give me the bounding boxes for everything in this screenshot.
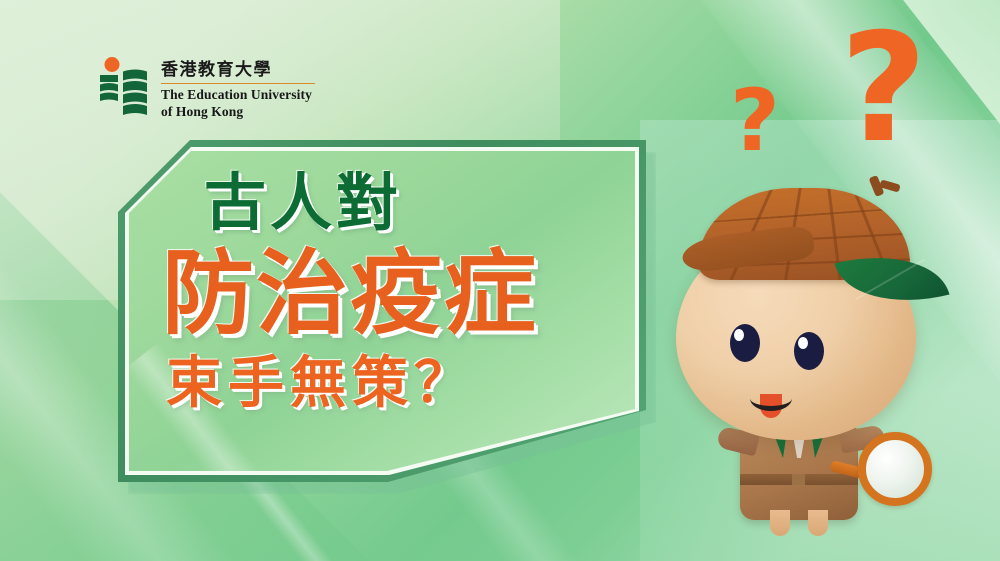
logo-name-english-line1: The Education University <box>161 87 315 104</box>
magnifying-glass-icon <box>858 432 932 506</box>
mascot-leg-right <box>808 510 828 536</box>
title-line-1: 古人對 <box>204 172 620 234</box>
logo-name-english-line2: of Hong Kong <box>161 104 315 121</box>
eduhk-logo: 香港教育大學 The Education University of Hong … <box>96 56 315 122</box>
mascot-leg-left <box>770 510 790 536</box>
question-mark-small-icon: ? <box>730 78 780 164</box>
cap-lattice-line <box>698 206 910 225</box>
poster-canvas: ? ? 香港教育大學 The Education University of H… <box>0 0 1000 561</box>
logo-divider-rule <box>161 83 315 85</box>
acorn-detective-mascot <box>662 186 982 561</box>
title-line-2: 防治疫症 <box>162 248 620 340</box>
mascot-eye-right <box>794 332 824 370</box>
mascot-eye-left <box>730 324 760 362</box>
eduhk-logo-mark-icon <box>96 56 150 122</box>
question-mark-large-icon: ? <box>840 14 927 164</box>
title-line-3: 束手無策？ <box>166 356 620 412</box>
logo-name-chinese: 香港教育大學 <box>161 61 315 80</box>
acorn-cap-stem <box>870 176 896 202</box>
eduhk-logo-text: 香港教育大學 The Education University of Hong … <box>161 56 315 121</box>
title-block: 古人對 防治疫症 束手無策？ <box>160 172 620 412</box>
mascot-mouth <box>750 386 792 411</box>
mascot-belt-buckle <box>792 474 805 485</box>
